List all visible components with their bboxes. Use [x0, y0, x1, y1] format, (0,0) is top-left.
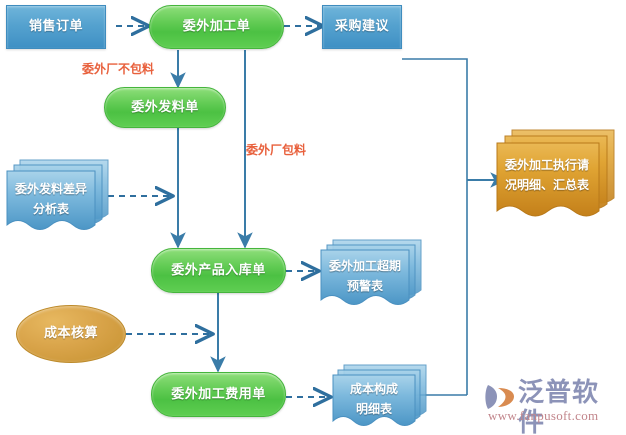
node-product-receipt-label: 委外产品入库单	[171, 262, 266, 280]
watermark-logo: 泛普软件 www.fanpusoft.com	[484, 378, 620, 430]
doc-overdue-alert-report[interactable]: 委外加工超期 预警表	[318, 238, 426, 310]
node-sales-order[interactable]: 销售订单	[6, 5, 106, 49]
annotation-with-material: 委外厂包料	[246, 141, 306, 158]
flowchart-canvas: 销售订单 委外加工单 采购建议 委外发料单 委外产品入库单 委外加工费用单 成本…	[0, 0, 626, 435]
node-sales-order-label: 销售订单	[29, 18, 83, 36]
node-cost-accounting-label: 成本核算	[44, 325, 98, 343]
node-outsource-issue-label: 委外发料单	[131, 99, 199, 117]
node-outsource-order[interactable]: 委外加工单	[149, 5, 284, 49]
logo-url-text: www.fanpusoft.com	[488, 408, 598, 424]
doc-issue-variance-report[interactable]: 委外发料差异 分析表	[4, 158, 112, 236]
node-purchase-advice-label: 采购建议	[335, 18, 389, 36]
node-product-receipt[interactable]: 委外产品入库单	[151, 248, 286, 293]
doc-execution-report[interactable]: 委外加工执行请 况明细、汇总表	[494, 128, 618, 222]
node-outsource-order-label: 委外加工单	[183, 18, 251, 36]
node-outsource-issue[interactable]: 委外发料单	[104, 87, 226, 128]
node-purchase-advice[interactable]: 采购建议	[322, 5, 402, 49]
logo-brand-text: 泛普软件	[518, 378, 620, 435]
annotation-no-material: 委外厂不包料	[82, 60, 154, 77]
edge-right-spine-to-execution-report	[402, 59, 505, 395]
node-processing-fee-label: 委外加工费用单	[171, 386, 266, 404]
node-processing-fee[interactable]: 委外加工费用单	[151, 372, 286, 417]
doc-cost-detail-report[interactable]: 成本构成 明细表	[330, 363, 430, 431]
node-cost-accounting[interactable]: 成本核算	[16, 305, 126, 363]
